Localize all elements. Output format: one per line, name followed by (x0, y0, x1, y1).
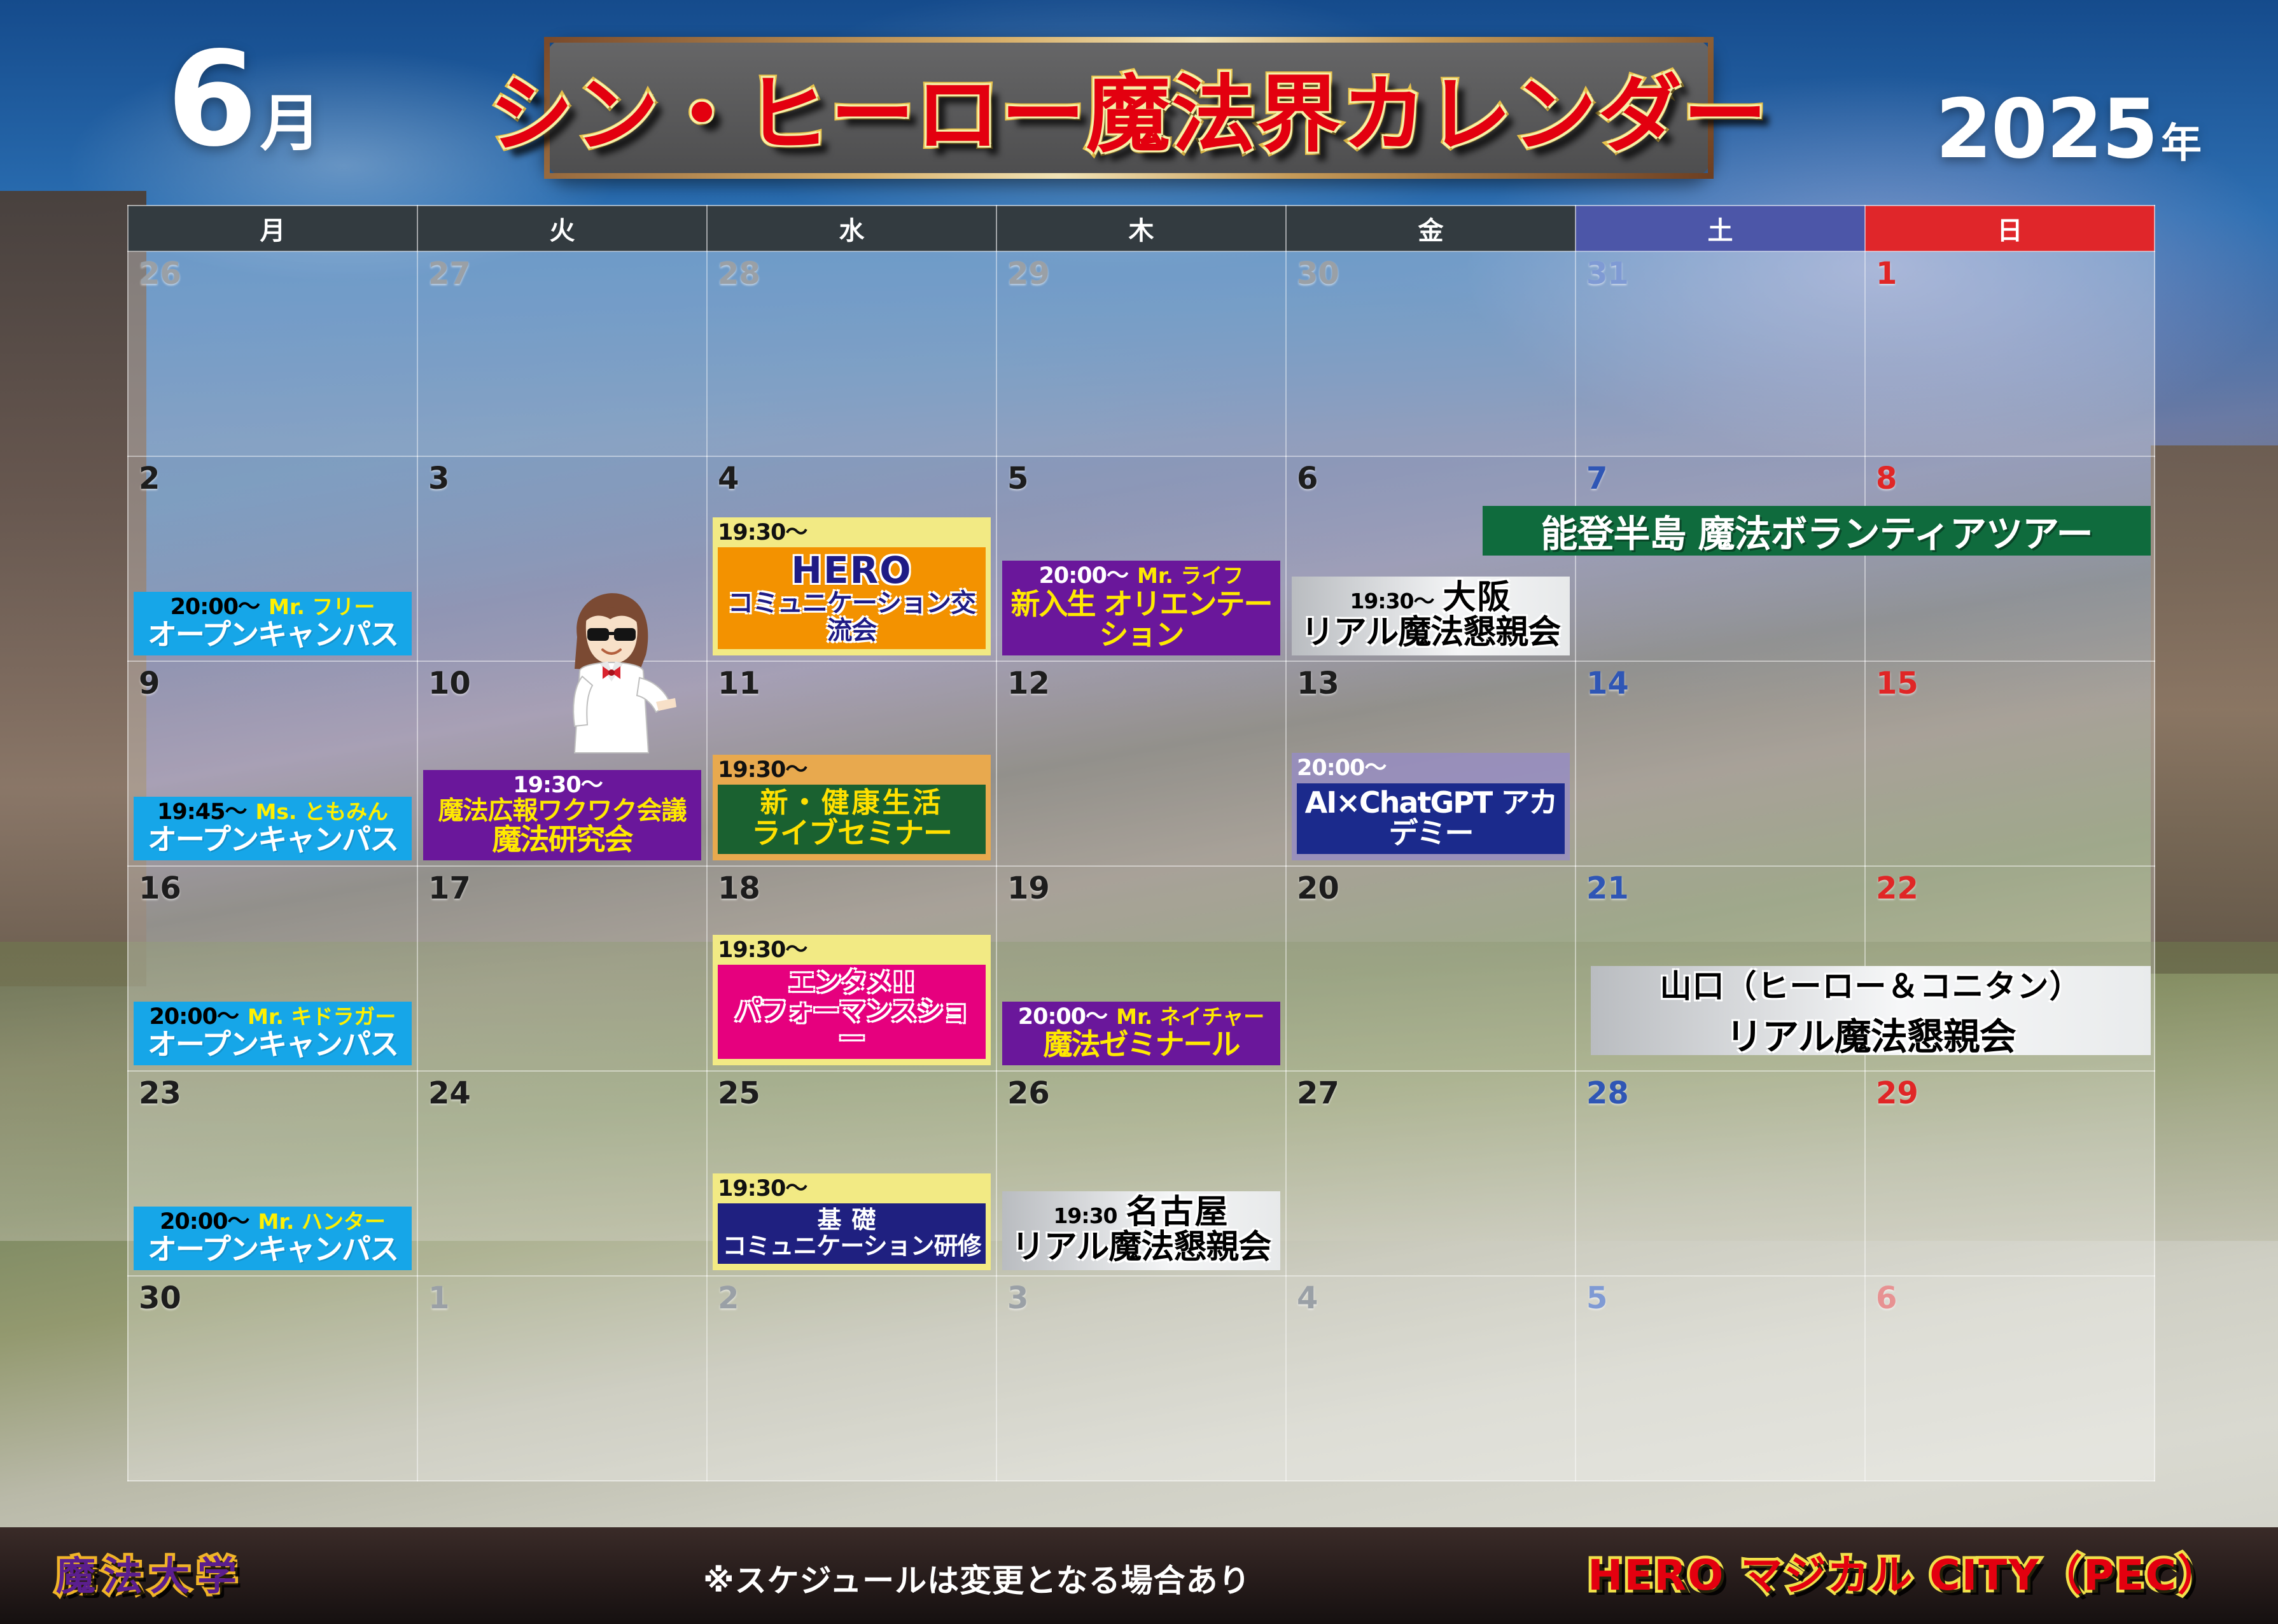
day-number: 17 (428, 871, 471, 906)
event-slot: 19:30〜 新・健康生活 ライブセミナー (708, 755, 996, 860)
day-number: 2 (718, 1280, 739, 1316)
event-time: 19:30〜 (513, 774, 602, 797)
event-ai-chatgpt-academy-jun13[interactable]: 20:00〜 AI×ChatGPT アカデミー (1292, 753, 1570, 860)
event-banner-yamaguchi-meetup[interactable]: 山口（ヒーロー＆コニタン） リアル魔法懇親会 (1591, 966, 2151, 1055)
event-title: 魔法ゼミナール (1007, 1029, 1275, 1060)
day-number: 16 (139, 871, 181, 906)
event-location: 名古屋 (1126, 1193, 1229, 1231)
event-time: 19:30〜 (718, 521, 986, 545)
event-inner-box: エンタメ!! パフォーマンスショー (718, 965, 986, 1059)
month-number: 6 (167, 24, 255, 176)
year-number: 2025 (1936, 82, 2157, 177)
day-number: 20 (1297, 871, 1339, 906)
event-title: リアル魔法懇親会 (1007, 1230, 1275, 1265)
day-number: 2 (139, 461, 160, 496)
event-title-line1: 魔法広報ワクワク会議 (428, 797, 696, 824)
event-title-line2: 魔法研究会 (428, 824, 696, 855)
weekday-header-sun: 日 (1865, 206, 2155, 251)
day-number: 30 (1297, 256, 1339, 291)
event-host: Mr. フリー (269, 594, 375, 619)
event-title-line1: 新・健康生活 (722, 788, 982, 818)
calendar-week-3: 9 19:45〜Ms. ともみん オープンキャンパス 10 19:30〜 魔法広… (128, 661, 2155, 866)
day-number: 1 (1876, 256, 1897, 291)
event-open-campus-jun23[interactable]: 20:00〜Mr. ハンター オープンキャンパス (134, 1207, 412, 1270)
day-cell-jun14[interactable]: 14 (1576, 661, 1865, 866)
day-number: 27 (428, 256, 471, 291)
day-number: 25 (718, 1075, 760, 1111)
day-cell-may27[interactable]: 27 (417, 251, 707, 456)
event-time: 20:00〜 (1039, 564, 1128, 588)
event-time: 20:00〜 (171, 596, 260, 619)
event-location: 大阪 (1443, 578, 1512, 617)
event-open-campus-jun9[interactable]: 19:45〜Ms. ともみん オープンキャンパス (134, 797, 412, 860)
event-time: 19:30〜 (1350, 591, 1434, 613)
month-indicator: 6月 (167, 45, 319, 155)
event-slot: 19:30〜 魔法広報ワクワク会議 魔法研究会 (418, 770, 706, 860)
event-magic-seminar-jun19[interactable]: 20:00〜Mr. ネイチャー 魔法ゼミナール (1002, 1002, 1280, 1065)
day-cell-jun27[interactable]: 27 (1286, 1071, 1576, 1276)
event-open-campus-jun16[interactable]: 20:00〜Mr. キドラガー オープンキャンパス (134, 1002, 412, 1065)
weekday-header-thu: 木 (996, 206, 1286, 251)
event-title-line2: パフォーマンスショー (722, 997, 982, 1054)
day-cell-jun26[interactable]: 26 19:30名古屋 リアル魔法懇親会 (996, 1071, 1286, 1276)
event-host: Mr. キドラガー (248, 1004, 396, 1029)
day-cell-jun25[interactable]: 25 19:30〜 基礎 コミュニケーション研修 (707, 1071, 996, 1276)
event-host: Mr. ネイチャー (1116, 1004, 1264, 1029)
day-cell-jun18[interactable]: 18 19:30〜 エンタメ!! パフォーマンスショー (707, 866, 996, 1071)
day-number: 29 (1007, 256, 1050, 291)
day-number: 5 (1007, 461, 1028, 496)
year-suffix: 年 (2161, 120, 2202, 167)
weekday-header-mon: 月 (128, 206, 417, 251)
event-title: オープンキャンパス (139, 619, 407, 650)
event-title-line1: HERO (722, 551, 982, 590)
day-cell-jun30[interactable]: 30 (128, 1276, 417, 1481)
day-number: 26 (139, 256, 181, 291)
day-cell-may30[interactable]: 30 (1286, 251, 1576, 456)
day-cell-jul6[interactable]: 6 (1865, 1276, 2155, 1481)
day-cell-jun6[interactable]: 6 19:30〜大阪 リアル魔法懇親会 (1286, 456, 1576, 661)
footer-bar: 魔法大学 ※スケジュールは変更となる場合あり HERO マジカル CITY（PE… (0, 1527, 2278, 1624)
day-number: 8 (1876, 461, 1897, 496)
event-time: 20:00〜 (1018, 1005, 1107, 1029)
day-cell-jun4[interactable]: 4 19:30〜 HERO コミュニケーション交流会 (707, 456, 996, 661)
event-orientation-jun5[interactable]: 20:00〜Mr. ライフ 新入生 オリエンテーション (1002, 561, 1280, 655)
event-slot: 19:30〜 HERO コミュニケーション交流会 (708, 517, 996, 655)
day-number: 3 (428, 461, 449, 496)
event-open-campus-jun2[interactable]: 20:00〜Mr. フリー オープンキャンパス (134, 592, 412, 655)
event-inner-box: HERO コミュニケーション交流会 (718, 547, 986, 649)
day-number: 4 (718, 461, 739, 496)
day-cell-jun11[interactable]: 11 19:30〜 新・健康生活 ライブセミナー (707, 661, 996, 866)
day-number: 28 (718, 256, 760, 291)
day-number: 1 (428, 1280, 449, 1316)
year-indicator: 2025年 (1936, 89, 2202, 171)
event-title-line1: AI×ChatGPT アカデミー (1301, 787, 1561, 850)
month-suffix: 月 (260, 88, 319, 159)
building-right-decoration (2151, 445, 2278, 974)
event-slot: 20:00〜Mr. キドラガー オープンキャンパス (129, 1002, 417, 1065)
event-osaka-meetup-jun6[interactable]: 19:30〜大阪 リアル魔法懇親会 (1292, 577, 1570, 655)
day-number: 21 (1586, 871, 1629, 906)
day-cell-jun28[interactable]: 28 (1576, 1071, 1865, 1276)
weekday-header-row: 月 火 水 木 金 土 日 (128, 206, 2155, 251)
event-title-line2: コミュニケーション交流会 (722, 590, 982, 644)
calendar-week-6: 30 1 2 3 4 5 6 (128, 1276, 2155, 1481)
footer-disclaimer: ※スケジュールは変更となる場合あり (703, 1555, 1251, 1601)
mascot-illustration (544, 576, 678, 760)
day-number: 27 (1297, 1075, 1339, 1111)
event-title-line1: 山口（ヒーロー＆コニタン） (1660, 961, 2082, 1007)
event-title-line2: リアル魔法懇親会 (1726, 1007, 2015, 1060)
event-time: 20:00〜 (150, 1005, 239, 1029)
event-slot: 19:30〜大阪 リアル魔法懇親会 (1287, 577, 1575, 655)
event-slot: 20:00〜Mr. フリー オープンキャンパス (129, 592, 417, 655)
event-hero-communication-jun4[interactable]: 19:30〜 HERO コミュニケーション交流会 (713, 517, 991, 655)
event-time: 20:00〜 (160, 1210, 249, 1234)
day-number: 9 (139, 666, 160, 701)
day-cell-jun17[interactable]: 17 (417, 866, 707, 1071)
day-cell-jun9[interactable]: 9 19:45〜Ms. ともみん オープンキャンパス (128, 661, 417, 866)
event-title-line1: 基礎 (722, 1207, 982, 1233)
day-cell-jun1[interactable]: 1 (1865, 251, 2155, 456)
day-cell-jul4[interactable]: 4 (1286, 1276, 1576, 1481)
event-entertainment-show-jun18[interactable]: 19:30〜 エンタメ!! パフォーマンスショー (713, 935, 991, 1065)
day-cell-jul2[interactable]: 2 (707, 1276, 996, 1481)
event-title-line2: ライブセミナー (722, 818, 982, 849)
event-health-seminar-jun11[interactable]: 19:30〜 新・健康生活 ライブセミナー (713, 755, 991, 860)
event-nagoya-meetup-jun26[interactable]: 19:30名古屋 リアル魔法懇親会 (1002, 1191, 1280, 1270)
day-number: 24 (428, 1075, 471, 1111)
day-number: 19 (1007, 871, 1050, 906)
day-number: 12 (1007, 666, 1050, 701)
day-number: 14 (1586, 666, 1629, 701)
day-cell-jun24[interactable]: 24 (417, 1071, 707, 1276)
day-number: 31 (1586, 256, 1629, 291)
event-time: 19:30 (1053, 1205, 1117, 1228)
event-slot: 19:30名古屋 リアル魔法懇親会 (997, 1191, 1285, 1270)
day-cell-may26[interactable]: 26 (128, 251, 417, 456)
day-number: 3 (1007, 1280, 1028, 1316)
weekday-header-fri: 金 (1286, 206, 1576, 251)
day-cell-jun8[interactable]: 8 (1865, 456, 2155, 661)
event-inner-box: AI×ChatGPT アカデミー (1297, 783, 1565, 855)
calendar-week-1: 26 27 28 29 30 31 1 (128, 251, 2155, 456)
day-cell-jun7[interactable]: 7 (1576, 456, 1865, 661)
building-left-decoration (0, 191, 146, 986)
day-number: 30 (139, 1280, 181, 1316)
day-cell-jul5[interactable]: 5 (1576, 1276, 1865, 1481)
day-number: 7 (1586, 461, 1607, 496)
event-banner-noto-volunteer-tour[interactable]: 能登半島 魔法ボランティアツアー (1483, 506, 2151, 556)
event-slot: 20:00〜Mr. ハンター オープンキャンパス (129, 1207, 417, 1270)
day-number: 13 (1297, 666, 1339, 701)
event-inner-box: 基礎 コミュニケーション研修 (718, 1203, 986, 1264)
event-time: 19:30〜 (718, 1177, 986, 1201)
event-time: 19:30〜 (718, 759, 986, 782)
footer-left-logo: 魔法大学 (56, 1544, 244, 1601)
day-number: 26 (1007, 1075, 1050, 1111)
day-cell-jun29[interactable]: 29 (1865, 1071, 2155, 1276)
day-number: 10 (428, 666, 471, 701)
event-host: Ms. ともみん (255, 799, 388, 824)
day-number: 6 (1876, 1280, 1897, 1316)
day-cell-jul1[interactable]: 1 (417, 1276, 707, 1481)
event-title-line1: エンタメ!! (722, 969, 982, 997)
calendar-week-2: 2 20:00〜Mr. フリー オープンキャンパス 3 4 19:30〜 (128, 456, 2155, 661)
event-host: Mr. ライフ (1137, 563, 1243, 588)
day-number: 6 (1297, 461, 1318, 496)
day-number: 23 (139, 1075, 181, 1111)
day-number: 15 (1876, 666, 1918, 701)
event-title: 能登半島 魔法ボランティアツアー (1541, 504, 2092, 557)
day-cell-may29[interactable]: 29 (996, 251, 1286, 456)
calendar-grid: 月 火 水 木 金 土 日 26 27 28 29 30 31 1 (127, 205, 2155, 1481)
event-slot: 20:00〜 AI×ChatGPT アカデミー (1287, 753, 1575, 860)
event-inner-box: 新・健康生活 ライブセミナー (718, 785, 986, 854)
day-cell-jun5[interactable]: 5 20:00〜Mr. ライフ 新入生 オリエンテーション (996, 456, 1286, 661)
day-number: 22 (1876, 871, 1918, 906)
event-title: リアル魔法懇親会 (1297, 615, 1565, 650)
day-cell-may28[interactable]: 28 (707, 251, 996, 456)
event-time: 19:30〜 (718, 939, 986, 962)
event-slot: 20:00〜Mr. ライフ 新入生 オリエンテーション (997, 561, 1285, 655)
event-title: オープンキャンパス (139, 824, 407, 855)
event-slot: 19:30〜 エンタメ!! パフォーマンスショー (708, 935, 996, 1065)
day-cell-jun13[interactable]: 13 20:00〜 AI×ChatGPT アカデミー (1286, 661, 1576, 866)
day-cell-jun23[interactable]: 23 20:00〜Mr. ハンター オープンキャンパス (128, 1071, 417, 1276)
day-cell-may31[interactable]: 31 (1576, 251, 1865, 456)
day-number: 29 (1876, 1075, 1918, 1111)
day-cell-jun19[interactable]: 19 20:00〜Mr. ネイチャー 魔法ゼミナール (996, 866, 1286, 1071)
event-slot: 19:30〜 基礎 コミュニケーション研修 (708, 1173, 996, 1270)
day-cell-jun2[interactable]: 2 20:00〜Mr. フリー オープンキャンパス (128, 456, 417, 661)
day-number: 4 (1297, 1280, 1318, 1316)
day-number: 28 (1586, 1075, 1629, 1111)
event-title: オープンキャンパス (139, 1234, 407, 1265)
event-slot: 19:45〜Ms. ともみん オープンキャンパス (129, 797, 417, 860)
day-number: 18 (718, 871, 760, 906)
event-title: 新入生 オリエンテーション (1007, 589, 1275, 651)
day-cell-jul3[interactable]: 3 (996, 1276, 1286, 1481)
day-number: 5 (1586, 1280, 1607, 1316)
day-number: 11 (718, 666, 760, 701)
weekday-header-wed: 水 (707, 206, 996, 251)
weekday-header-sat: 土 (1576, 206, 1865, 251)
event-magic-pr-meeting-jun10[interactable]: 19:30〜 魔法広報ワクワク会議 魔法研究会 (423, 770, 701, 860)
page-title: シン・ヒーロー魔法界カレンダー (489, 47, 1768, 169)
day-cell-jun20[interactable]: 20 (1286, 866, 1576, 1071)
calendar-poster: 6月 シン・ヒーロー魔法界カレンダー 2025年 月 火 水 木 金 土 日 2… (0, 0, 2278, 1624)
day-cell-jun12[interactable]: 12 (996, 661, 1286, 866)
day-cell-jun15[interactable]: 15 (1865, 661, 2155, 866)
title-plate: シン・ヒーロー魔法界カレンダー (544, 37, 1714, 179)
event-slot: 20:00〜Mr. ネイチャー 魔法ゼミナール (997, 1002, 1285, 1065)
event-time: 20:00〜 (1297, 757, 1565, 780)
event-title: オープンキャンパス (139, 1029, 407, 1060)
calendar-week-5: 23 20:00〜Mr. ハンター オープンキャンパス 24 25 19:30〜 (128, 1071, 2155, 1276)
event-host: Mr. ハンター (258, 1209, 385, 1234)
event-basic-communication-training-jun25[interactable]: 19:30〜 基礎 コミュニケーション研修 (713, 1173, 991, 1270)
weekday-header-tue: 火 (417, 206, 707, 251)
day-cell-jun16[interactable]: 16 20:00〜Mr. キドラガー オープンキャンパス (128, 866, 417, 1071)
footer-right-logo: HERO マジカル CITY（PEC） (1588, 1541, 2221, 1602)
event-title-line2: コミュニケーション研修 (722, 1233, 982, 1259)
event-time: 19:45〜 (157, 801, 246, 824)
